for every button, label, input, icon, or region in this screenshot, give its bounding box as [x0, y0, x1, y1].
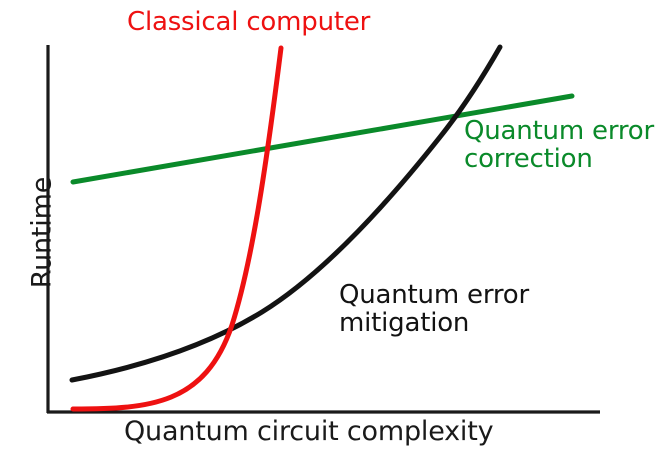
series-label-classical-computer: Classical computer: [127, 8, 370, 36]
series-label-quantum-error-correction: Quantum error correction: [464, 117, 654, 173]
series-label-quantum-error-mitigation: Quantum error mitigation: [339, 281, 529, 337]
y-axis-label: Runtime: [27, 163, 56, 303]
curve-classical-computer: [73, 48, 281, 409]
chart-figure: Classical computer Quantum error correct…: [0, 0, 671, 457]
plot-canvas: [0, 0, 671, 457]
x-axis-label: Quantum circuit complexity: [124, 417, 493, 446]
